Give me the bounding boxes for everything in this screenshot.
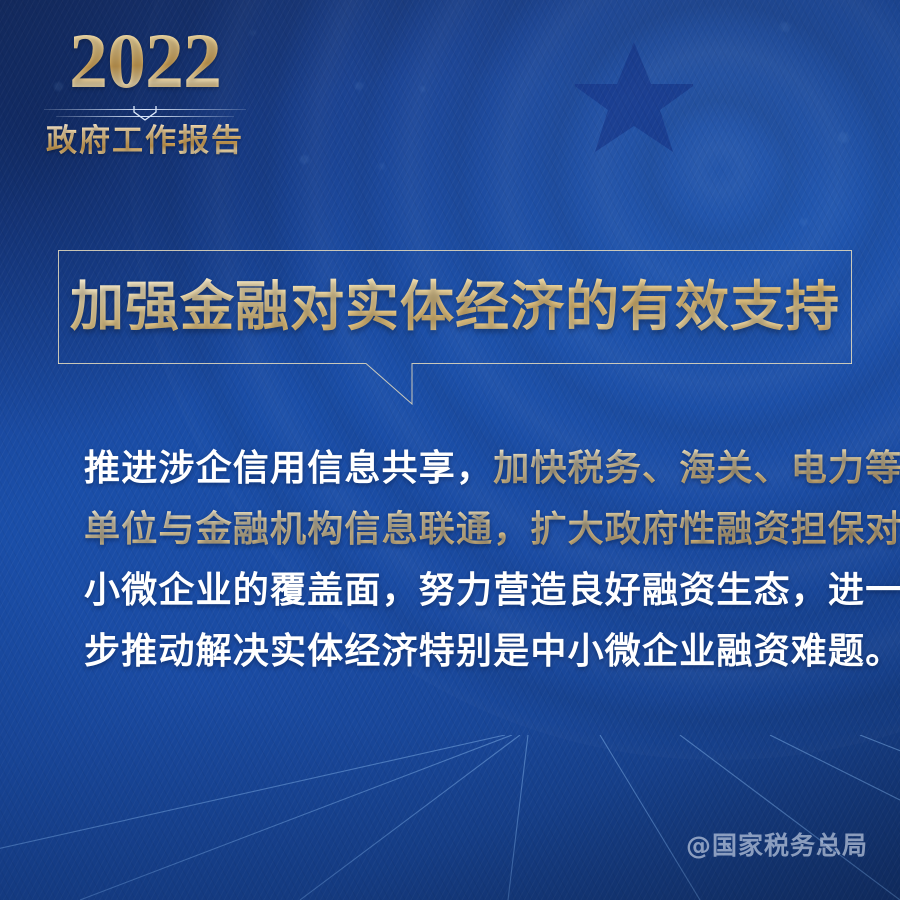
body-line: 单位与金融机构信息联通，扩大政府性融资担保对	[84, 499, 844, 560]
logo-year: 2022	[40, 22, 250, 100]
headline-callout: 加强金融对实体经济的有效支持	[58, 250, 852, 364]
body-segment: 小微企业的覆盖面，努力营造良好融资生态，进一	[84, 570, 900, 611]
body-segment: 步推动解决实体经济特别是中小微企业融资难题。	[84, 631, 900, 672]
logo-title: 政府工作报告	[40, 124, 250, 158]
page-title: 加强金融对实体经济的有效支持	[58, 278, 852, 336]
body-line: 步推动解决实体经济特别是中小微企业融资难题。	[84, 621, 844, 682]
body-line: 推进涉企信用信息共享，加快税务、海关、电力等	[84, 438, 844, 499]
logo-divider	[40, 105, 250, 121]
body-paragraph: 推进涉企信用信息共享，加快税务、海关、电力等 单位与金融机构信息联通，扩大政府性…	[84, 438, 844, 682]
body-segment: 加快税务、海关、电力等	[493, 448, 900, 489]
crown-chevron-icon	[125, 105, 165, 121]
watermark: @国家税务总局	[686, 826, 868, 862]
body-segment: 推进涉企信用信息共享，	[84, 448, 493, 489]
poster-canvas: 2022 政府工作报告 加强金融对实体经济的有效支持 推进涉企信用信息共享，加快…	[0, 0, 900, 900]
report-logo: 2022 政府工作报告	[40, 22, 250, 158]
body-segment: 单位与金融机构信息联通，扩大政府性融资担保对	[84, 509, 900, 550]
body-line: 小微企业的覆盖面，努力营造良好融资生态，进一	[84, 560, 844, 621]
